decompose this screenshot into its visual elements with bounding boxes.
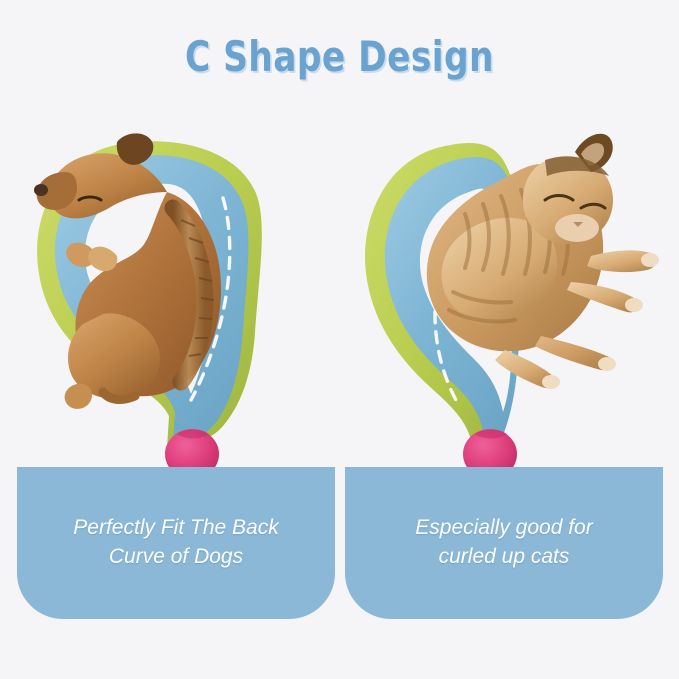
dog-caption-text: Perfectly Fit The Back Curve of Dogs: [17, 513, 335, 571]
dog-caption-line1: Perfectly Fit The Back: [73, 516, 278, 539]
dog-caption-panel: Perfectly Fit The Back Curve of Dogs: [17, 467, 335, 619]
cat-panel: Especially good for curled up cats: [345, 96, 663, 632]
dog-panel: Perfectly Fit The Back Curve of Dogs: [17, 96, 335, 632]
cat-caption-line1: Especially good for: [415, 516, 592, 539]
cat-caption-panel: Especially good for curled up cats: [345, 467, 663, 619]
cat-product-illustration: [345, 96, 663, 476]
dog-caption-line2: Curve of Dogs: [17, 542, 335, 571]
product-feature-poster: C Shape Design: [0, 0, 679, 679]
cat-caption-text: Especially good for curled up cats: [345, 513, 663, 571]
cat-caption-line2: curled up cats: [345, 542, 663, 571]
dog-product-illustration: [17, 96, 335, 476]
page-title: C Shape Design: [61, 33, 618, 80]
